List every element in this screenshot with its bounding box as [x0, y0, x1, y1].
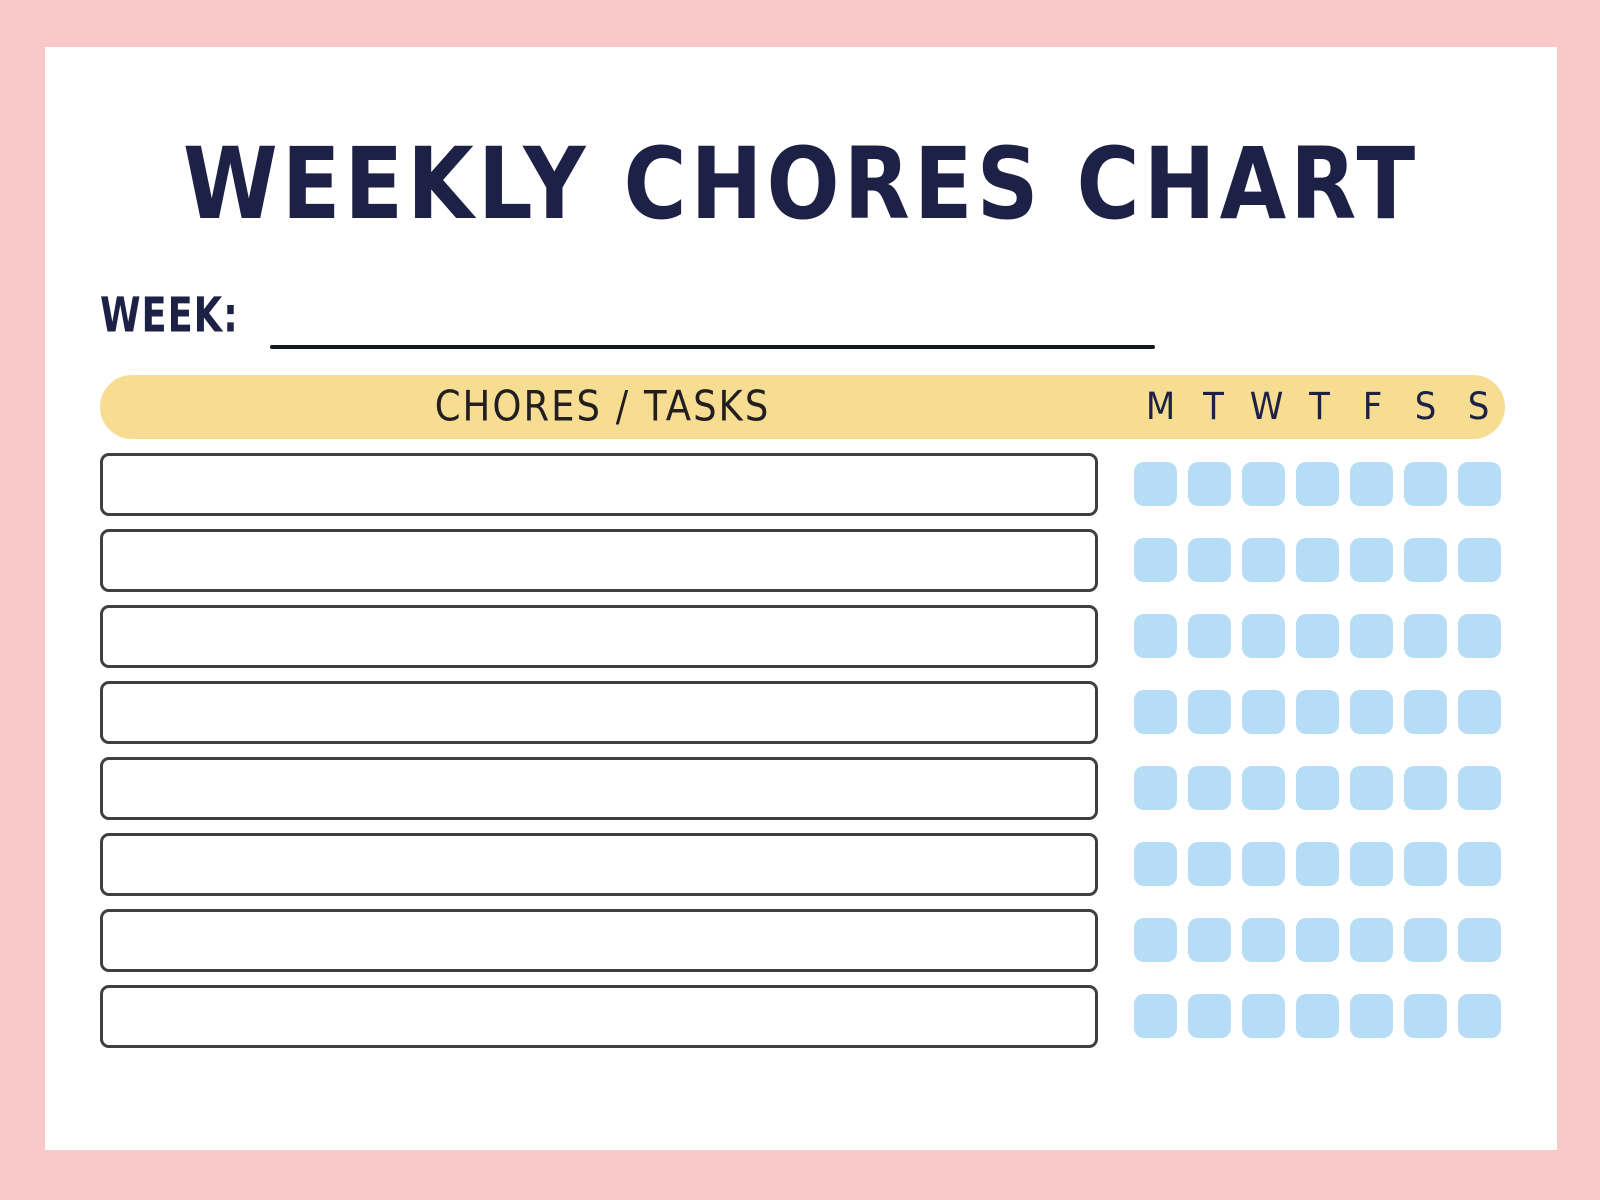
- task-input-6[interactable]: [100, 909, 1098, 972]
- day-checkbox-group-2: [1134, 614, 1505, 660]
- page-title: WEEKLY CHORES CHART: [45, 135, 1557, 234]
- table-row: [100, 985, 1505, 1048]
- day-checkbox-r0-c6[interactable]: [1458, 462, 1501, 506]
- table-row: [100, 605, 1505, 668]
- day-checkbox-r6-c5[interactable]: [1404, 918, 1447, 962]
- day-checkbox-r2-c1[interactable]: [1188, 614, 1231, 658]
- day-checkbox-group-1: [1134, 538, 1505, 584]
- day-checkbox-group-3: [1134, 690, 1505, 736]
- day-checkbox-r5-c0[interactable]: [1134, 842, 1177, 886]
- task-input-5[interactable]: [100, 833, 1098, 896]
- chores-tasks-column-header: CHORES / TASKS: [100, 371, 1105, 443]
- day-checkbox-r1-c3[interactable]: [1296, 538, 1339, 582]
- day-checkbox-r6-c6[interactable]: [1458, 918, 1501, 962]
- day-checkbox-r4-c3[interactable]: [1296, 766, 1339, 810]
- day-checkbox-r2-c4[interactable]: [1350, 614, 1393, 658]
- day-checkbox-r3-c1[interactable]: [1188, 690, 1231, 734]
- table-row: [100, 757, 1505, 820]
- day-header-4: F: [1346, 372, 1399, 442]
- day-checkbox-r5-c3[interactable]: [1296, 842, 1339, 886]
- table-header-bar: CHORES / TASKS MTWTFSS: [100, 375, 1505, 439]
- day-checkbox-r5-c4[interactable]: [1350, 842, 1393, 886]
- table-row: [100, 681, 1505, 744]
- day-checkbox-group-4: [1134, 766, 1505, 812]
- day-checkbox-r2-c2[interactable]: [1242, 614, 1285, 658]
- day-checkbox-group-7: [1134, 994, 1505, 1040]
- table-row: [100, 833, 1505, 896]
- table-row: [100, 909, 1505, 972]
- week-label: WEEK:: [100, 287, 239, 345]
- day-checkbox-r0-c4[interactable]: [1350, 462, 1393, 506]
- task-input-3[interactable]: [100, 681, 1098, 744]
- day-header-5: S: [1399, 372, 1452, 442]
- task-input-2[interactable]: [100, 605, 1098, 668]
- day-checkbox-r6-c4[interactable]: [1350, 918, 1393, 962]
- chart-sheet: WEEKLY CHORES CHART WEEK: CHORES / TASKS…: [45, 47, 1557, 1150]
- day-checkbox-r5-c6[interactable]: [1458, 842, 1501, 886]
- day-checkbox-r1-c0[interactable]: [1134, 538, 1177, 582]
- day-checkbox-r0-c5[interactable]: [1404, 462, 1447, 506]
- day-checkbox-r1-c1[interactable]: [1188, 538, 1231, 582]
- day-checkbox-r4-c6[interactable]: [1458, 766, 1501, 810]
- day-checkbox-r4-c5[interactable]: [1404, 766, 1447, 810]
- day-checkbox-group-5: [1134, 842, 1505, 888]
- day-checkbox-r0-c3[interactable]: [1296, 462, 1339, 506]
- day-checkbox-r4-c1[interactable]: [1188, 766, 1231, 810]
- day-checkbox-r3-c6[interactable]: [1458, 690, 1501, 734]
- week-write-in-line[interactable]: [270, 345, 1155, 349]
- day-checkbox-r7-c0[interactable]: [1134, 994, 1177, 1038]
- day-checkbox-r5-c2[interactable]: [1242, 842, 1285, 886]
- day-checkbox-r1-c2[interactable]: [1242, 538, 1285, 582]
- day-header-1: T: [1187, 372, 1240, 442]
- day-checkbox-r7-c3[interactable]: [1296, 994, 1339, 1038]
- day-checkbox-r2-c0[interactable]: [1134, 614, 1177, 658]
- table-row: [100, 529, 1505, 592]
- day-checkbox-r6-c2[interactable]: [1242, 918, 1285, 962]
- day-checkbox-r2-c3[interactable]: [1296, 614, 1339, 658]
- day-checkbox-r3-c5[interactable]: [1404, 690, 1447, 734]
- chore-rows: [100, 453, 1505, 1061]
- week-field-row: WEEK:: [100, 287, 1160, 349]
- day-checkbox-r2-c5[interactable]: [1404, 614, 1447, 658]
- day-header-3: T: [1293, 372, 1346, 442]
- day-checkbox-r3-c2[interactable]: [1242, 690, 1285, 734]
- task-input-0[interactable]: [100, 453, 1098, 516]
- day-header-2: W: [1240, 372, 1293, 442]
- day-checkbox-r1-c4[interactable]: [1350, 538, 1393, 582]
- day-header-6: S: [1452, 372, 1505, 442]
- day-checkbox-r6-c0[interactable]: [1134, 918, 1177, 962]
- day-checkbox-r0-c1[interactable]: [1188, 462, 1231, 506]
- day-checkbox-r3-c3[interactable]: [1296, 690, 1339, 734]
- day-checkbox-r5-c5[interactable]: [1404, 842, 1447, 886]
- day-checkbox-r7-c5[interactable]: [1404, 994, 1447, 1038]
- day-checkbox-r1-c5[interactable]: [1404, 538, 1447, 582]
- printable-page: WEEKLY CHORES CHART WEEK: CHORES / TASKS…: [0, 0, 1600, 1200]
- day-checkbox-r7-c4[interactable]: [1350, 994, 1393, 1038]
- day-checkbox-r4-c0[interactable]: [1134, 766, 1177, 810]
- day-checkbox-group-6: [1134, 918, 1505, 964]
- day-checkbox-r7-c1[interactable]: [1188, 994, 1231, 1038]
- day-checkbox-r3-c0[interactable]: [1134, 690, 1177, 734]
- day-checkbox-r3-c4[interactable]: [1350, 690, 1393, 734]
- task-input-1[interactable]: [100, 529, 1098, 592]
- day-checkbox-r1-c6[interactable]: [1458, 538, 1501, 582]
- task-input-4[interactable]: [100, 757, 1098, 820]
- day-checkbox-r6-c3[interactable]: [1296, 918, 1339, 962]
- day-checkbox-r5-c1[interactable]: [1188, 842, 1231, 886]
- day-checkbox-r4-c4[interactable]: [1350, 766, 1393, 810]
- day-header-0: M: [1134, 372, 1187, 442]
- day-checkbox-r2-c6[interactable]: [1458, 614, 1501, 658]
- day-checkbox-r0-c2[interactable]: [1242, 462, 1285, 506]
- day-header-group: MTWTFSS: [1134, 375, 1505, 439]
- table-row: [100, 453, 1505, 516]
- day-checkbox-r6-c1[interactable]: [1188, 918, 1231, 962]
- day-checkbox-r7-c6[interactable]: [1458, 994, 1501, 1038]
- day-checkbox-r4-c2[interactable]: [1242, 766, 1285, 810]
- day-checkbox-r7-c2[interactable]: [1242, 994, 1285, 1038]
- day-checkbox-group-0: [1134, 462, 1505, 508]
- day-checkbox-r0-c0[interactable]: [1134, 462, 1177, 506]
- task-input-7[interactable]: [100, 985, 1098, 1048]
